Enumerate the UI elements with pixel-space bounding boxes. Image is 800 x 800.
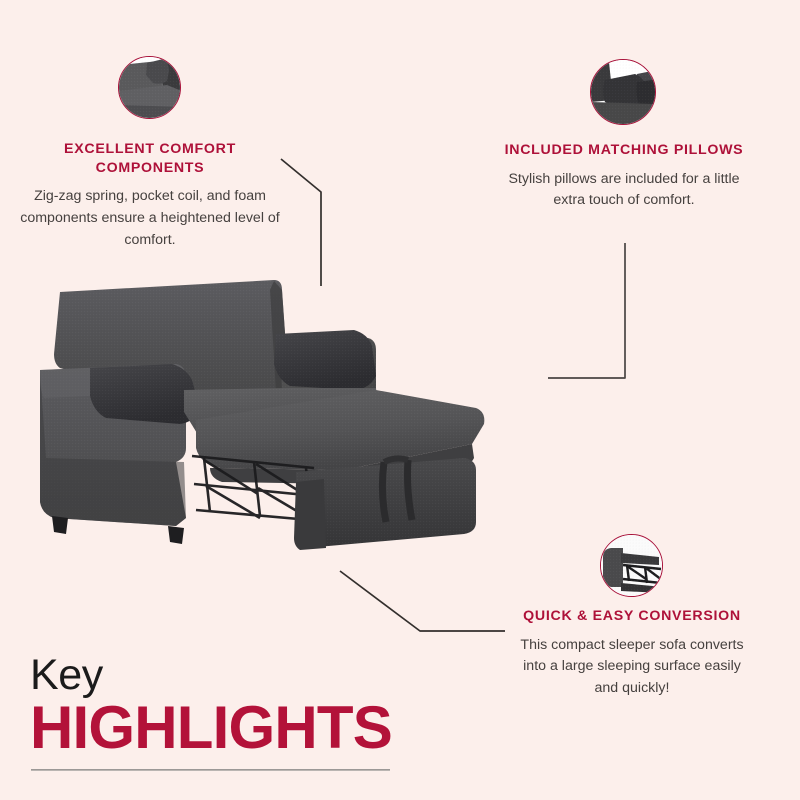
title-divider: [31, 769, 390, 771]
sofa-seat-closeup-art: [119, 57, 181, 119]
feature-title: EXCELLENT COMFORT COMPONENTS: [16, 140, 284, 177]
page-title-line2: HIGHLIGHTS: [30, 698, 392, 758]
page-title-line1: Key: [30, 655, 392, 696]
matching-pillows-closeup-photo: [590, 59, 656, 125]
connector-line-comfort: [281, 159, 321, 286]
pull-out-frame-closeup-photo: [600, 534, 663, 597]
sleeper-sofa-photo: [24, 272, 494, 567]
feature-body: Stylish pillows are included for a littl…: [498, 169, 750, 212]
feature-excellent-comfort-components: EXCELLENT COMFORT COMPONENTS Zig-zag spr…: [16, 140, 284, 251]
feature-body: This compact sleeper sofa converts into …: [510, 635, 754, 700]
feature-title: QUICK & EASY CONVERSION: [510, 607, 754, 626]
sofa-seat-closeup-photo: [118, 56, 181, 119]
matching-pillows-closeup-art: [591, 60, 656, 125]
pull-out-frame-closeup-art: [601, 535, 663, 597]
feature-body: Zig-zag spring, pocket coil, and foam co…: [16, 186, 284, 251]
connector-line-pillows: [548, 243, 625, 378]
connector-line-conversion: [340, 571, 505, 631]
feature-title: INCLUDED MATCHING PILLOWS: [498, 141, 750, 160]
feature-quick-easy-conversion: QUICK & EASY CONVERSION This compact sle…: [510, 607, 754, 699]
key-highlights-infographic: EXCELLENT COMFORT COMPONENTS Zig-zag spr…: [0, 0, 800, 800]
feature-included-matching-pillows: INCLUDED MATCHING PILLOWS Stylish pillow…: [498, 141, 750, 212]
page-title: Key HIGHLIGHTS: [30, 655, 392, 758]
